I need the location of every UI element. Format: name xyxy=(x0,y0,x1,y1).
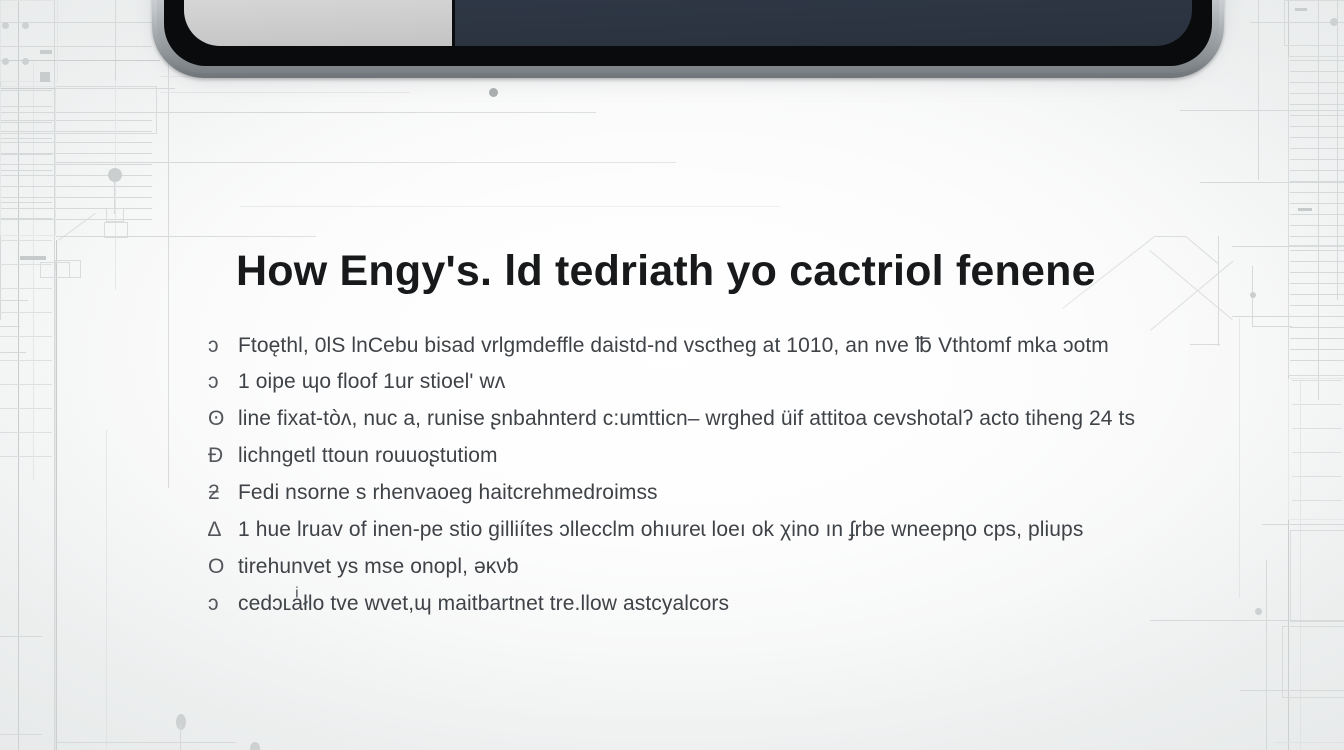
page-title: How Engy's. ld tedriath yo cactriol fene… xyxy=(236,248,1208,295)
bullet-marker-icon: ƻ xyxy=(208,481,238,505)
list-item: ɔ Ftoęthl, 0lS lnCebu bisad vrlgmdeffle … xyxy=(208,333,1208,370)
bullet-marker-icon: ɔ xyxy=(208,334,238,358)
screen-glare xyxy=(184,0,1192,46)
list-item-label: 1 oipe ɰo floof 1ur stioel' ᴡʌ xyxy=(238,370,505,394)
list-item-label: 1 hue lruav of inen-pe stio gilliítes ɔl… xyxy=(238,518,1083,542)
phone-frame xyxy=(152,0,1224,78)
bullet-marker-icon: Ɖ xyxy=(208,444,238,468)
bullet-marker-icon: ɔ xyxy=(208,592,238,616)
phone-bottom-dot xyxy=(489,88,498,97)
list-item: ∆ 1 hue lruav of inen-pe stio gilliítes … xyxy=(208,518,1208,555)
list-item-label: line fixat-tòʌ, nuc a, runise ʂnbahnterd… xyxy=(238,407,1135,431)
list-item: ƻ Fedi nsorne s rhenvaoeg haitcrehmedroi… xyxy=(208,481,1208,518)
list-item: Ο tirehunvet ys mse onopl, әκνƅ xyxy=(208,555,1208,592)
list-item: ʘ line fixat-tòʌ, nuc a, runise ʂnbahnte… xyxy=(208,407,1208,444)
bullet-marker-icon: Ο xyxy=(208,555,238,579)
smartphone-device xyxy=(152,0,1224,78)
list-item-label: lichngetl ttoun rouuoʂtutiom xyxy=(238,444,498,468)
list-item-label: Ftoęthl, 0lS lnCebu bisad vrlgmdeffle da… xyxy=(238,333,1109,358)
list-item: Ɖ lichngetl ttoun rouuoʂtutiom xyxy=(208,444,1208,481)
phone-screen xyxy=(184,0,1192,46)
illustration-canvas: How Engy's. ld tedriath yo cactriol fene… xyxy=(0,0,1344,750)
list-item: ɔ cedɔʟaͥłlo tve wvet,ɰ maitbartnet tre.… xyxy=(208,592,1208,629)
bullet-list: ɔ Ftoęthl, 0lS lnCebu bisad vrlgmdeffle … xyxy=(208,333,1208,629)
article-content: How Engy's. ld tedriath yo cactriol fene… xyxy=(208,248,1208,629)
bullet-marker-icon: ɔ xyxy=(208,370,238,394)
list-item-label: cedɔʟaͥłlo tve wvet,ɰ maitbartnet tre.ll… xyxy=(238,592,729,616)
list-item: ɔ 1 oipe ɰo floof 1ur stioel' ᴡʌ xyxy=(208,370,1208,407)
phone-bezel xyxy=(164,0,1212,66)
list-item-label: tirehunvet ys mse onopl, әκνƅ xyxy=(238,555,519,579)
bullet-marker-icon: ∆ xyxy=(208,518,238,542)
list-item-label: Fedi nsorne s rhenvaoeg haitcrehmedroims… xyxy=(238,481,658,505)
bullet-marker-icon: ʘ xyxy=(208,407,238,431)
